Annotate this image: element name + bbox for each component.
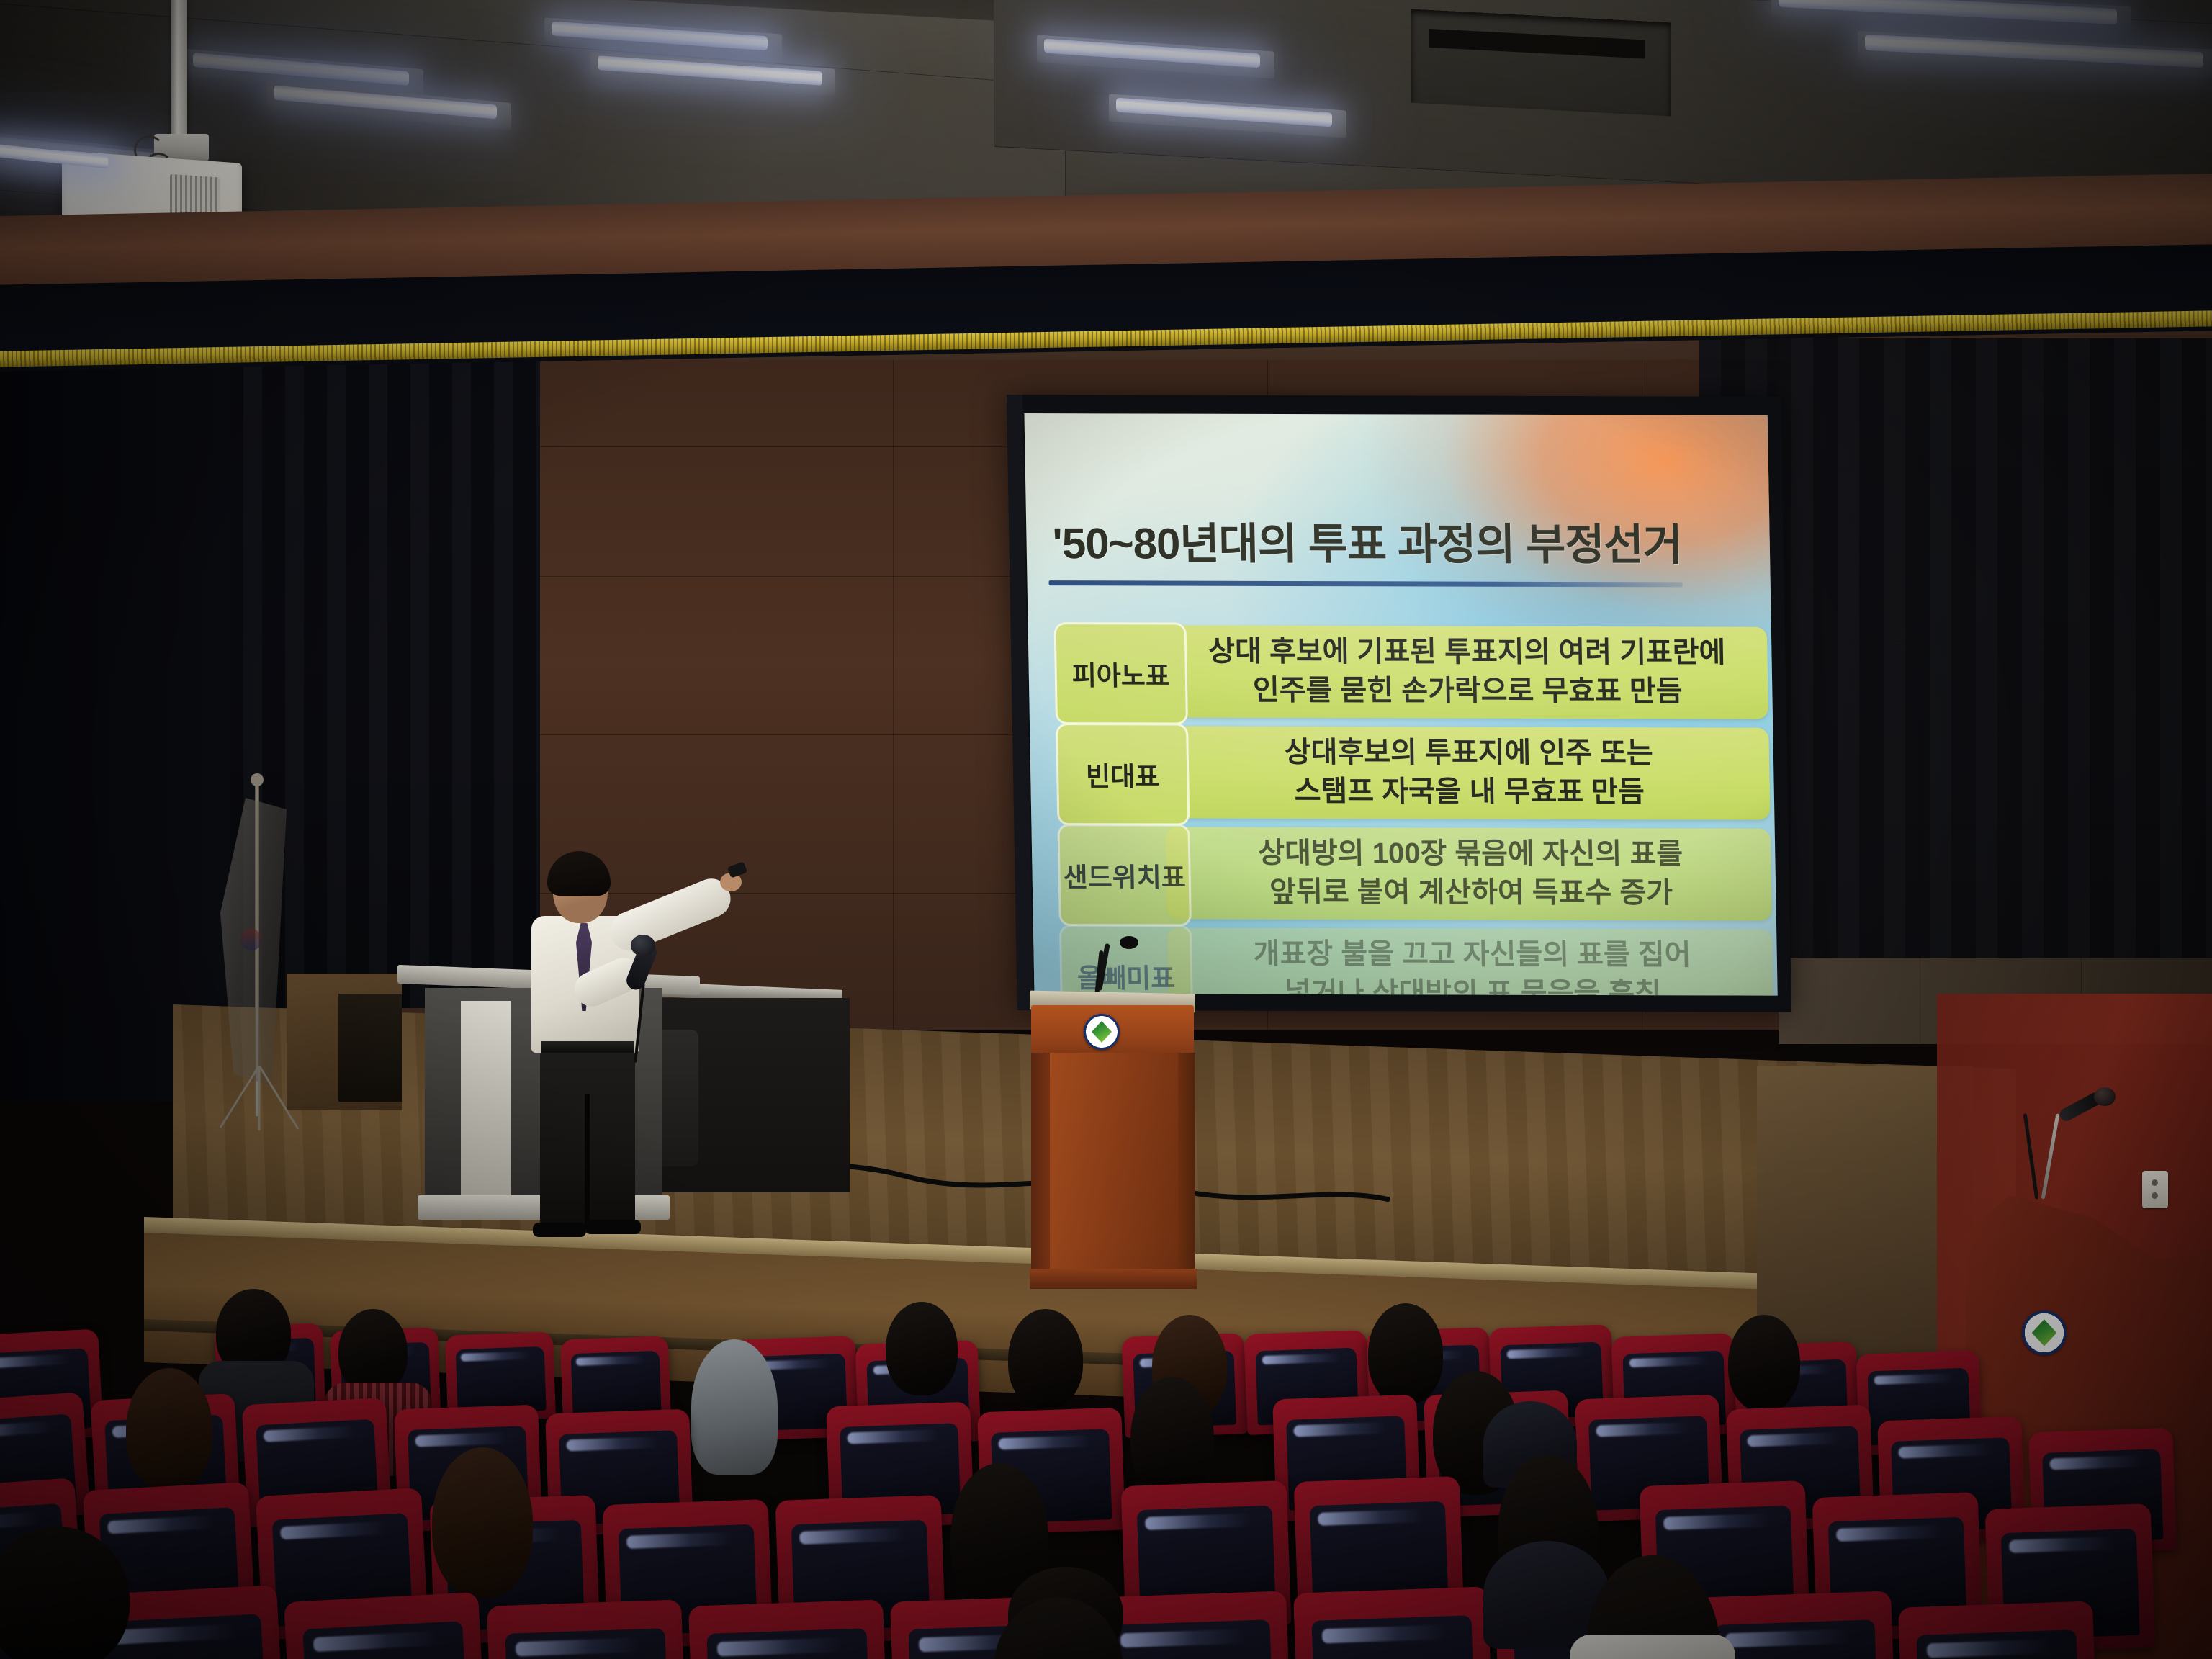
ceiling-light bbox=[1865, 35, 2203, 68]
air-vent-grille bbox=[1411, 9, 1671, 117]
slide-row-line1: 상대후보의 투표지에 인주 또는 bbox=[1284, 734, 1653, 773]
slide-row-line1: 개표장 불을 끄고 자신들의 표를 집어 bbox=[1253, 935, 1691, 975]
ceiling-light bbox=[1044, 39, 1260, 68]
ceiling-light bbox=[598, 55, 822, 86]
auditorium-photo: '50~80년대의 투표 과정의 부정선거 피아노표 상대 후보에 기표된 투표… bbox=[0, 0, 2212, 1659]
projection-screen: '50~80년대의 투표 과정의 부정선거 피아노표 상대 후보에 기표된 투표… bbox=[1024, 413, 1777, 996]
slide-row-text: 개표장 불을 끄고 자신들의 표를 집어 넣거나 상대방의 표 묶음을 훔침 bbox=[1174, 930, 1771, 995]
presenter bbox=[504, 857, 734, 1231]
slide-row: 빈대표 상대후보의 투표지에 인주 또는 스탬프 자국을 내 무효표 만듬 bbox=[1056, 723, 1745, 825]
presenter-belt bbox=[541, 1041, 634, 1053]
projector-mount-pole bbox=[171, 0, 187, 144]
presenter-hair bbox=[547, 851, 611, 896]
slide-row-label: 빈대표 bbox=[1056, 723, 1190, 825]
stage-equipment-box-opening bbox=[338, 994, 402, 1102]
audience-head bbox=[432, 1447, 533, 1599]
slide-row-line2: 인주를 묻힌 손가락으로 무효표 만듬 bbox=[1253, 672, 1683, 711]
audience-head bbox=[338, 1309, 408, 1394]
taeguk-symbol-icon bbox=[240, 929, 262, 950]
slide-row-line2: 넣거나 상대방의 표 묶음을 훔침 bbox=[1285, 974, 1662, 996]
seat bbox=[1898, 1601, 2098, 1659]
ceiling-slab bbox=[1008, 0, 2212, 73]
slide-row-text: 상대후보의 투표지에 인주 또는 스탬프 자국을 내 무효표 만듬 bbox=[1171, 729, 1767, 817]
audience-head bbox=[126, 1368, 212, 1491]
ceiling-light bbox=[1116, 98, 1332, 127]
slide-title-rule bbox=[1049, 580, 1683, 587]
audience-head bbox=[691, 1339, 778, 1475]
podium-microphone-head-icon bbox=[2094, 1087, 2116, 1106]
ceiling-light bbox=[274, 85, 497, 119]
audience-head bbox=[1130, 1377, 1214, 1499]
left-wing-shadow bbox=[0, 310, 230, 1102]
slide-row-label: 샌드위치표 bbox=[1057, 824, 1192, 926]
presenter-raised-arm bbox=[605, 873, 736, 956]
slide-row: 올빼미표 개표장 불을 끄고 자신들의 표를 집어 넣거나 상대방의 표 묶음을… bbox=[1059, 925, 1749, 996]
slide-title: '50~80년대의 투표 과정의 부정선거 bbox=[1052, 508, 1723, 572]
slide-row-line2: 스탬프 자국을 내 무효표 만듬 bbox=[1294, 773, 1645, 812]
slide-row: 샌드위치표 상대방의 100장 묶음에 자신의 표를 앞뒤로 붙여 계산하여 득… bbox=[1057, 824, 1747, 926]
ceiling-light bbox=[1779, 0, 2117, 24]
slide-row-label: 올빼미표 bbox=[1059, 925, 1194, 996]
slide-row-label: 피아노표 bbox=[1054, 622, 1189, 724]
slide-row-line1: 상대방의 100장 묶음에 자신의 표를 bbox=[1258, 835, 1683, 874]
institution-emblem-icon bbox=[1084, 1014, 1120, 1050]
flag-stand bbox=[216, 1066, 302, 1130]
seat bbox=[487, 1599, 687, 1659]
microphone-head-icon bbox=[631, 935, 655, 956]
projection-screen-frame: '50~80년대의 투표 과정의 부정선거 피아노표 상대 후보에 기표된 투표… bbox=[1007, 395, 1791, 1012]
seat bbox=[1293, 1586, 1493, 1659]
audience-coat bbox=[1570, 1635, 1735, 1659]
ceiling-light bbox=[552, 22, 768, 51]
slide-row-text: 상대방의 100장 묶음에 자신의 표를 앞뒤로 붙여 계산하여 득표수 증가 bbox=[1173, 829, 1769, 917]
slide-row-line1: 상대 후보에 기표된 투표지의 여려 기표란에 bbox=[1208, 633, 1726, 673]
stage-microphone-head-icon bbox=[1120, 936, 1138, 949]
slide-row: 피아노표 상대 후보에 기표된 투표지의 여려 기표란에 인주를 묻힌 손가락으… bbox=[1054, 622, 1744, 724]
flag-finial bbox=[251, 773, 264, 786]
ceiling-slab bbox=[0, 0, 1037, 133]
audience-head bbox=[1368, 1303, 1443, 1404]
ceiling-light bbox=[193, 53, 409, 86]
audience-head bbox=[1728, 1315, 1800, 1411]
slide-row-line2: 앞뒤로 붙여 계산하여 득표수 증가 bbox=[1269, 873, 1673, 913]
slide-row-text: 상대 후보에 기표된 투표지의 여려 기표란에 인주를 묻힌 손가락으로 무효표… bbox=[1169, 629, 1766, 716]
seat bbox=[688, 1599, 889, 1659]
seat bbox=[284, 1592, 487, 1659]
audience-head bbox=[886, 1302, 958, 1395]
audience-seating bbox=[0, 1181, 2212, 1659]
audience-head bbox=[1008, 1309, 1083, 1408]
